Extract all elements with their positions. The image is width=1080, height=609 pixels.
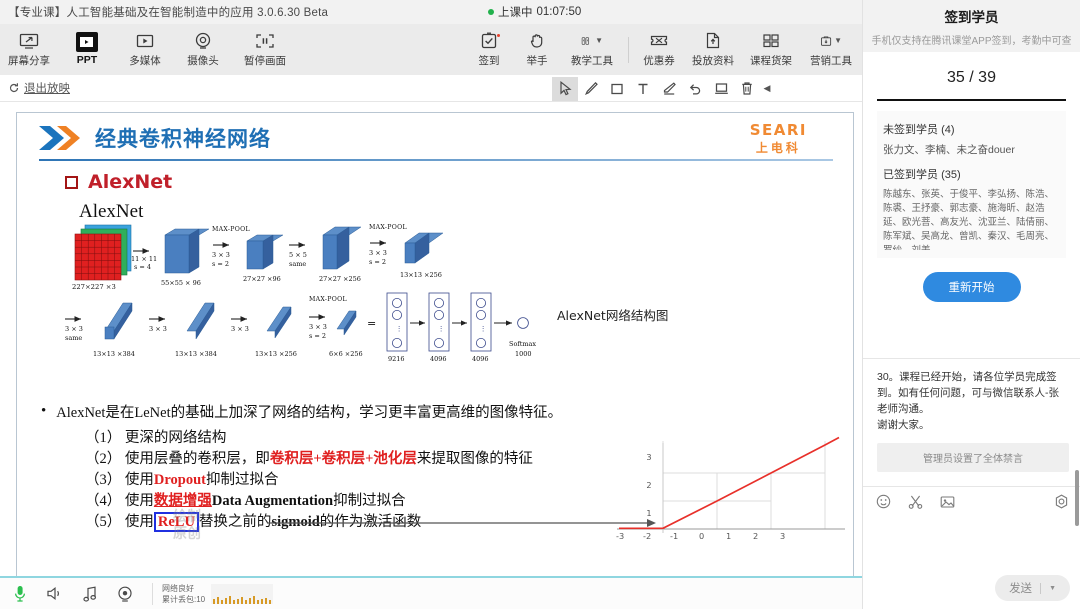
toolbar-divider <box>628 37 629 63</box>
toolbar-item-label: 教学工具 <box>571 53 613 68</box>
svg-text:⋮: ⋮ <box>396 325 403 333</box>
list-item-number: （5） <box>85 514 121 530</box>
chat-message-area: 30。课程已经开始，请各位学员完成签到。如有任何问题，可与微信联系人-张老师沟通… <box>863 358 1080 488</box>
chevron-down-icon: ▼ <box>834 36 842 45</box>
send-button[interactable]: 发送 ▼ <box>995 575 1070 601</box>
bottom-status-bar: 网络良好 累计丢包:10 <box>0 576 862 609</box>
relu-chart: 1 2 3 <box>613 433 849 557</box>
toolbar-item-teaching-tools[interactable]: ▼ 教学工具 <box>561 26 623 74</box>
svg-text:27×27 ×96: 27×27 ×96 <box>243 275 281 283</box>
packet-loss-label: 累计丢包:10 <box>162 594 205 605</box>
checked-names: 陈越东、张英、于俊平、李弘扬、陈浩、陈裘、王抒豪、郭志豪、施海昕、赵浩延、欧光菩… <box>883 188 1060 250</box>
laser-board-tool[interactable] <box>708 77 734 101</box>
svg-text:2: 2 <box>646 480 651 490</box>
student-list[interactable]: 未签到学员 (4) 张力文、李楠、未之奋douer 已签到学员 (35) 陈越东… <box>877 111 1066 258</box>
toolbar-item-coupon[interactable]: 优惠券 <box>634 26 684 74</box>
reset-icon <box>8 82 20 94</box>
emoji-icon[interactable] <box>875 494 891 510</box>
svg-text:27×27 ×256: 27×27 ×256 <box>319 275 361 283</box>
svg-text:4096: 4096 <box>472 355 489 363</box>
svg-text:绘制: 绘制 <box>173 508 201 525</box>
svg-text:4096: 4096 <box>430 355 447 363</box>
send-options-chevron-icon[interactable]: ▼ <box>1049 585 1056 592</box>
raise-hand-icon <box>526 32 548 50</box>
toolbar-item-raise-hand[interactable]: 举手 <box>513 26 561 74</box>
list-item-number: （3） <box>85 472 121 488</box>
camera-icon <box>192 32 214 50</box>
coupon-icon <box>648 32 670 50</box>
eraser-tool[interactable] <box>656 77 682 101</box>
marketing-tools-icon: ▼ <box>820 32 842 50</box>
svg-text:1000: 1000 <box>515 350 532 358</box>
header-rule <box>39 159 833 161</box>
svg-text:13×13 ×256: 13×13 ×256 <box>400 271 442 279</box>
svg-text:13×13 ×256: 13×13 ×256 <box>255 350 297 358</box>
checkin-sidebar: 签到学员 手机仅支持在腾讯课堂APP签到，考勤中可查 35 / 39 未签到学员… <box>862 0 1080 609</box>
svg-text:same: same <box>289 260 306 268</box>
live-dot-icon <box>488 9 494 15</box>
restart-button-wrap: 重新开始 <box>863 272 1080 302</box>
chat-message: 30。课程已经开始，请各位学员完成签到。如有任何问题，可与微信联系人-张老师沟通… <box>877 369 1069 433</box>
toolbar-item-label: 暂停画面 <box>244 53 286 68</box>
slide-stage: 经典卷积神经网络 SEARI 上电科 AlexNet AlexNet <box>0 102 862 559</box>
square-bullet-icon <box>65 176 78 189</box>
rectangle-tool[interactable] <box>604 77 630 101</box>
network-sparkline <box>211 584 273 604</box>
svg-text:3 × 3: 3 × 3 <box>369 249 387 257</box>
tencent-classroom-window: 【专业课】人工智能基础及在智能制造中的应用 3.0.6.30 Beta 上课中 … <box>0 0 1080 609</box>
svg-text:⋮: ⋮ <box>438 325 445 333</box>
slide-title: 经典卷积神经网络 <box>95 123 271 153</box>
brand-logo-cn: 上电科 <box>750 139 807 156</box>
text-tool[interactable] <box>630 77 656 101</box>
teaching-tools-icon: ▼ <box>581 32 603 50</box>
sidebar-subtitle: 手机仅支持在腾讯课堂APP签到，考勤中可查 <box>863 32 1080 47</box>
relu-series-line <box>619 438 839 529</box>
toolbar-item-label: 优惠券 <box>643 53 675 68</box>
exit-presentation-button[interactable]: 退出放映 <box>0 80 70 96</box>
microphone-icon[interactable] <box>10 584 30 604</box>
toolbar-item-ppt[interactable]: PPT <box>58 26 116 74</box>
send-button-label: 发送 <box>1009 580 1032 596</box>
unchecked-label: 未签到学员 <box>883 124 938 136</box>
toolbar-left-group: 屏幕分享 PPT 多媒体 摄像头 <box>0 26 298 74</box>
checkin-count: 35 / 39 <box>863 52 1080 99</box>
svg-text:MAX-POOL: MAX-POOL <box>212 226 250 233</box>
list-item-number: （4） <box>85 493 121 509</box>
toolbar-item-screen-share[interactable]: 屏幕分享 <box>0 26 58 74</box>
send-button-wrap: 发送 ▼ <box>995 575 1070 601</box>
toolbar-item-label: 营销工具 <box>810 53 852 68</box>
svg-text:Softmax: Softmax <box>509 340 536 348</box>
list-item-highlight: Dropout <box>154 472 206 488</box>
toolbar-item-label: 课程货架 <box>750 53 792 68</box>
list-item-text: 使用 <box>125 493 154 509</box>
push-material-icon <box>702 32 724 50</box>
checked-label: 已签到学员 <box>883 169 938 181</box>
svg-text:6×6 ×256: 6×6 ×256 <box>329 350 363 358</box>
slide-header: 经典卷积神经网络 SEARI 上电科 <box>17 113 853 165</box>
toolbar-right-group: 签到 举手 ▼ 教学工具 优惠券 <box>465 26 862 74</box>
live-timer: 01:07:50 <box>537 6 582 18</box>
svg-text:s = 2: s = 2 <box>309 332 326 340</box>
ppt-icon <box>76 33 98 51</box>
send-divider <box>1040 583 1041 594</box>
svg-text:⋮: ⋮ <box>480 325 487 333</box>
settings-icon[interactable] <box>1053 494 1069 510</box>
list-item-text: 抑制过拟合 <box>206 472 279 488</box>
toolbar-item-label: 投放资料 <box>692 53 734 68</box>
svg-text:s = 2: s = 2 <box>369 258 386 266</box>
pause-frame-icon <box>254 32 276 50</box>
svg-text:3: 3 <box>646 452 651 462</box>
svg-text:11 × 11: 11 × 11 <box>131 255 157 263</box>
toolbar-item-marketing-tools[interactable]: ▼ 营销工具 <box>800 26 862 74</box>
list-item-text: 来提取图像的特征 <box>417 451 533 467</box>
toolbar-item-label: 屏幕分享 <box>8 53 50 68</box>
alexnet-diagram-svg: 227×227 ×3 11 × 11s = 4 55×55 × 96 MAX-P… <box>57 201 587 381</box>
annotation-arrow <box>267 517 657 529</box>
svg-text:=: = <box>367 317 376 330</box>
undo-tool[interactable] <box>682 77 708 101</box>
checked-group-title: 已签到学员 (35) <box>883 166 1060 182</box>
media-icon <box>134 32 156 50</box>
slide-section-header: AlexNet <box>65 171 172 193</box>
image-icon[interactable] <box>939 494 955 510</box>
svg-text:3 × 3: 3 × 3 <box>309 323 327 331</box>
bullet-dot-icon: • <box>41 401 46 419</box>
restart-checkin-button[interactable]: 重新开始 <box>923 272 1021 302</box>
alexnet-figure: AlexNet <box>57 201 587 381</box>
camera-dot-icon[interactable] <box>115 584 135 604</box>
double-chevron-icon <box>39 125 85 156</box>
svg-text:55×55 × 96: 55×55 × 96 <box>161 279 201 287</box>
chart-tick-labels: 1 2 3 <box>646 452 651 518</box>
app-title: 【专业课】人工智能基础及在智能制造中的应用 3.0.6.30 Beta <box>0 4 328 20</box>
network-status[interactable]: 网络良好 累计丢包:10 <box>152 583 273 605</box>
toolbar-item-label: 签到 <box>479 53 500 68</box>
list-item-text: 更深的网络结构 <box>125 430 227 446</box>
svg-text:3 × 3: 3 × 3 <box>149 325 167 333</box>
system-notice: 管理员设置了全体禁言 <box>877 443 1069 472</box>
svg-text:1: 1 <box>646 508 651 518</box>
chevron-down-icon: ▼ <box>595 36 603 45</box>
toolbar-item-multimedia[interactable]: 多媒体 <box>116 26 174 74</box>
svg-text:s = 4: s = 4 <box>134 263 151 271</box>
list-item-highlight: 卷积层+卷积层+池化层 <box>270 451 417 467</box>
live-label: 上课中 <box>498 4 533 20</box>
svg-text:3 × 3: 3 × 3 <box>212 251 230 259</box>
brand-logo: SEARI 上电科 <box>750 121 807 156</box>
annotation-more-button[interactable]: ◀ <box>760 77 774 101</box>
chat-input[interactable] <box>863 516 1080 568</box>
main-toolbar: 屏幕分享 PPT 多媒体 摄像头 <box>0 24 862 75</box>
unchecked-count: (4) <box>941 124 954 136</box>
brand-logo-en: SEARI <box>750 121 807 139</box>
unchecked-group-title: 未签到学员 (4) <box>883 121 1060 137</box>
sidebar-header: 签到学员 手机仅支持在腾讯课堂APP签到，考勤中可查 <box>863 0 1080 52</box>
slide-section-title: AlexNet <box>88 171 172 193</box>
sidebar-title: 签到学员 <box>863 6 1080 26</box>
svg-text:s = 2: s = 2 <box>212 260 229 268</box>
svg-text:9216: 9216 <box>388 355 405 363</box>
toolbar-item-label: 多媒体 <box>129 53 161 68</box>
svg-text:5 × 5: 5 × 5 <box>289 251 307 259</box>
live-status: 上课中 01:07:50 <box>488 0 581 24</box>
unchecked-names: 张力文、李楠、未之奋douer <box>883 143 1060 158</box>
cursor-tool[interactable] <box>552 77 578 101</box>
watermark: 绘制原创 <box>171 505 247 545</box>
bullet-main-text: AlexNet是在LeNet的基础上加深了网络的结构，学习更丰富更高维的图像特征… <box>56 401 562 422</box>
list-item-number: （1） <box>85 430 121 446</box>
delete-tool[interactable] <box>734 77 760 101</box>
list-item-text: 使用层叠的卷积层，即 <box>125 451 270 467</box>
toolbar-item-pause-frame[interactable]: 暂停画面 <box>232 26 298 74</box>
annotation-toolbar: ◀ <box>552 76 774 101</box>
toolbar-item-course-shelf[interactable]: 课程货架 <box>742 26 800 74</box>
sidebar-divider <box>877 99 1066 101</box>
chat-input-toolbar <box>863 486 1080 516</box>
svg-text:3 × 3: 3 × 3 <box>231 325 249 333</box>
toolbar-item-label: PPT <box>77 54 97 66</box>
course-shelf-icon <box>760 32 782 50</box>
toolbar-item-push-material[interactable]: 投放资料 <box>684 26 742 74</box>
figure-caption: AlexNet网络结构图 <box>557 305 668 324</box>
exit-presentation-label: 退出放映 <box>24 80 70 96</box>
toolbar-item-camera[interactable]: 摄像头 <box>174 26 232 74</box>
scissors-icon[interactable] <box>907 494 923 510</box>
svg-text:13×13 ×384: 13×13 ×384 <box>93 350 135 358</box>
svg-text:227×227 ×3: 227×227 ×3 <box>72 283 116 291</box>
screen-share-icon <box>18 32 40 50</box>
checked-count: (35) <box>941 169 961 181</box>
toolbar-item-label: 举手 <box>527 53 548 68</box>
music-icon[interactable] <box>80 584 100 604</box>
network-status-label: 网络良好 <box>162 583 205 594</box>
sidebar-scrollbar[interactable] <box>1075 470 1079 526</box>
list-item-number: （2） <box>85 451 121 467</box>
svg-text:13×13 ×384: 13×13 ×384 <box>175 350 217 358</box>
toolbar-item-checkin[interactable]: 签到 <box>465 26 513 74</box>
list-item-text: 使用 <box>125 514 154 530</box>
bullet-main: • AlexNet是在LeNet的基础上加深了网络的结构，学习更丰富更高维的图像… <box>41 401 851 422</box>
toolbar-item-label: 摄像头 <box>187 53 219 68</box>
svg-text:原创: 原创 <box>173 525 201 542</box>
slide-canvas[interactable]: 经典卷积神经网络 SEARI 上电科 AlexNet AlexNet <box>16 112 854 580</box>
pen-tool[interactable] <box>578 77 604 101</box>
svg-text:same: same <box>65 334 82 342</box>
checkin-badge-dot <box>497 34 500 37</box>
svg-text:MAX-POOL: MAX-POOL <box>309 296 347 303</box>
list-item-text: 使用 <box>125 472 154 488</box>
speaker-icon[interactable] <box>45 584 65 604</box>
title-bar: 【专业课】人工智能基础及在智能制造中的应用 3.0.6.30 Beta <box>0 0 862 24</box>
list-item-text: 抑制过拟合 <box>333 493 406 509</box>
svg-text:MAX-POOL: MAX-POOL <box>369 224 407 231</box>
svg-text:3 × 3: 3 × 3 <box>65 325 83 333</box>
